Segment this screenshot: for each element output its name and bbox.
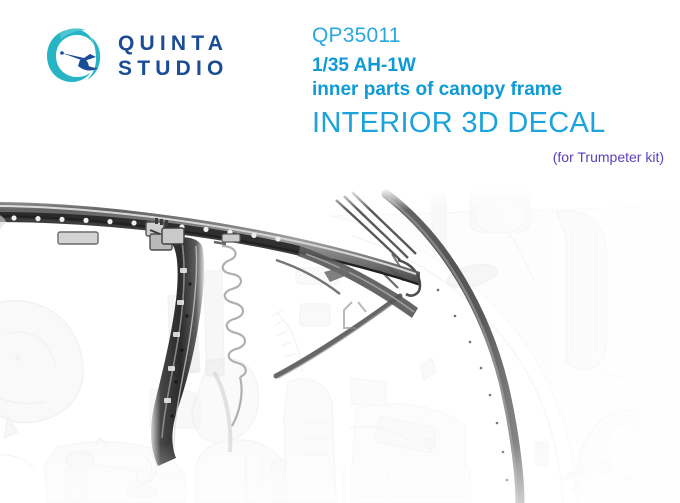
product-type: INTERIOR 3D DECAL <box>312 105 668 141</box>
brand-name-line1: QUINTA <box>118 33 229 54</box>
product-scale-subject: 1/35 AH-1W <box>312 54 668 77</box>
brand-logo: QUINTA STUDIO <box>44 27 229 85</box>
product-description: inner parts of canopy frame <box>312 78 668 101</box>
quinta-swirl-q-logo <box>44 27 106 85</box>
brand-name-line2: STUDIO <box>118 58 229 79</box>
product-title-block: QP35011 1/35 AH-1W inner parts of canopy… <box>312 24 668 166</box>
product-compatibility: (for Trumpeter kit) <box>312 148 668 166</box>
product-header-page: QUINTA STUDIO QP35011 1/35 AH-1W inner p… <box>0 0 680 503</box>
cockpit-photo <box>0 176 680 503</box>
product-code: QP35011 <box>312 24 668 48</box>
